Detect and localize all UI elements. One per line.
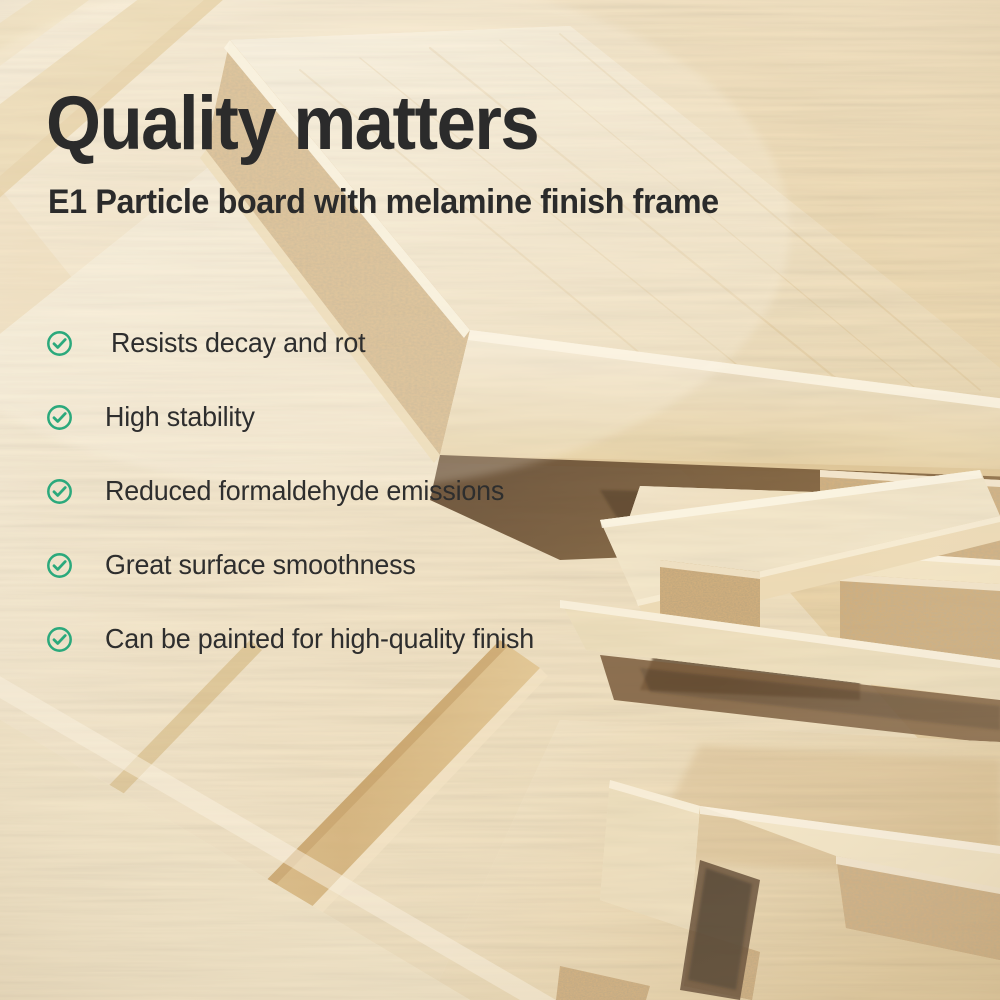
check-circle-icon	[46, 626, 73, 653]
list-item: Resists decay and rot	[46, 306, 552, 380]
feature-label: Resists decay and rot	[111, 329, 365, 357]
feature-label: Reduced formaldehyde emissions	[105, 477, 504, 505]
list-item: Can be painted for high-quality finish	[46, 602, 552, 676]
check-circle-icon	[46, 552, 73, 579]
check-circle-icon	[46, 404, 73, 431]
list-item: Great surface smoothness	[46, 528, 552, 602]
product-feature-banner: Quality matters E1 Particle board with m…	[0, 0, 1000, 1000]
feature-list: Resists decay and rot High stability Red…	[46, 306, 552, 676]
list-item: Reduced formaldehyde emissions	[46, 454, 552, 528]
feature-label: Great surface smoothness	[105, 551, 416, 579]
check-circle-icon	[46, 330, 73, 357]
feature-label: Can be painted for high-quality finish	[105, 625, 534, 653]
page-subtitle: E1 Particle board with melamine finish f…	[48, 185, 719, 219]
feature-label: High stability	[105, 403, 255, 431]
list-item: High stability	[46, 380, 552, 454]
check-circle-icon	[46, 478, 73, 505]
copy-block: Quality matters E1 Particle board with m…	[0, 0, 1000, 1000]
page-title: Quality matters	[46, 86, 538, 162]
